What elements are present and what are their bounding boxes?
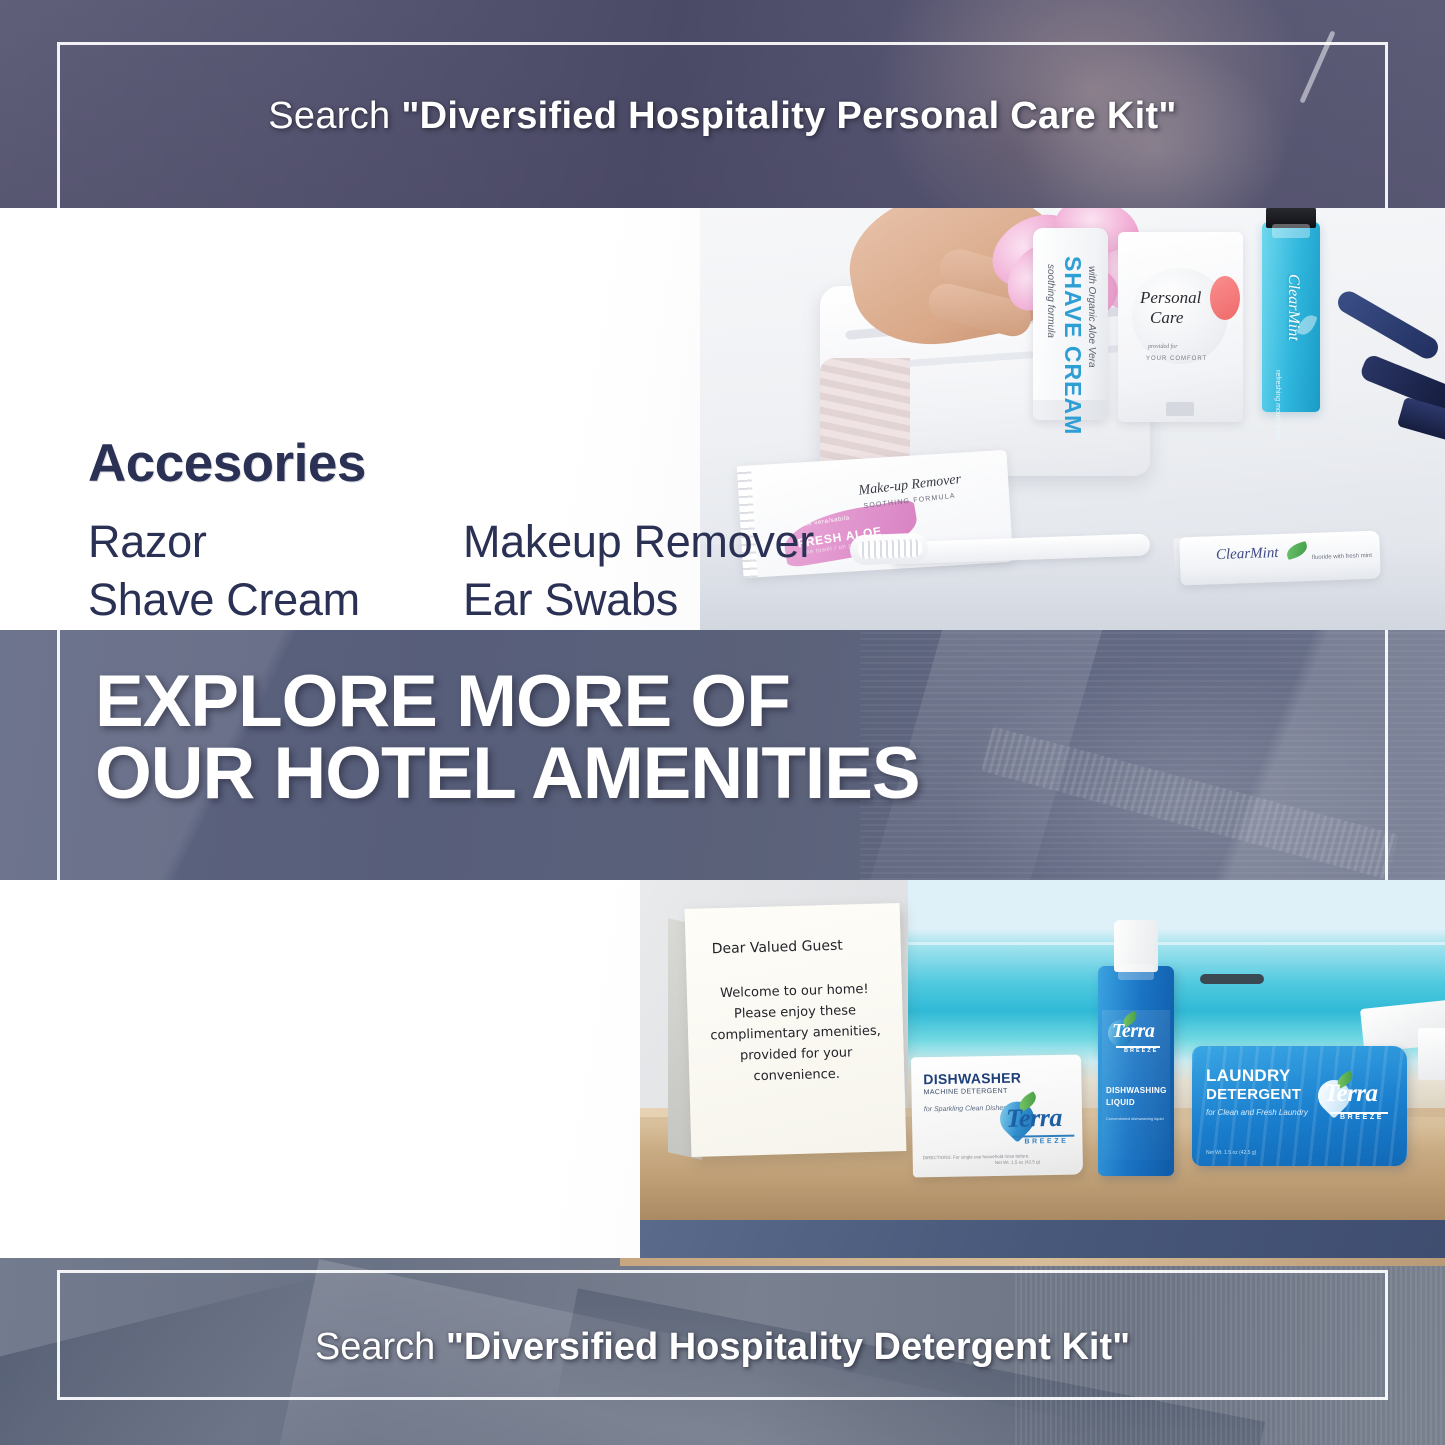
welcome-tent-card: Dear Valued Guest Welcome to our home! P… [685, 903, 907, 1157]
mouthwash-bottle: ClearMint refreshing mouth rinse [1262, 222, 1320, 412]
personal-care-line2: Care [1150, 308, 1183, 328]
personal-care-line1: Personal [1140, 288, 1201, 308]
floor-rug [640, 1220, 1445, 1258]
dishwasher-subtitle: MACHINE DETERGENT [924, 1088, 1008, 1096]
table-edge-strip [620, 1258, 1445, 1266]
laundry-fineprint: Net Wt. 1.5 oz (42.5 g) [1206, 1150, 1256, 1156]
personal-care-soap-pack: Personal Care provided for YOUR COMFORT [1118, 232, 1243, 422]
pack-tab [1166, 402, 1194, 416]
bottle-neck-highlight [1272, 224, 1310, 238]
dishwasher-fineprint-right: Net Wt. 1.5 oz (42.5 g) [995, 1159, 1040, 1167]
pink-accent [1210, 276, 1240, 320]
dishwashing-liquid-line2: LIQUID [1106, 1098, 1135, 1107]
dishwasher-detergent-sachet: DISHWASHER MACHINE DETERGENT for Sparkli… [911, 1055, 1083, 1178]
shave-cream-title: SHAVE CREAM [1059, 256, 1086, 435]
toothbrush-bristles [858, 539, 923, 559]
top-search-text: Search "Diversified Hospitality Personal… [0, 95, 1445, 138]
accessories-heading: Accesories [88, 433, 366, 494]
list-item: Razor [88, 513, 360, 571]
tent-card-text: Dear Valued Guest Welcome to our home! P… [685, 903, 905, 1089]
folded-napkins [1418, 1028, 1445, 1080]
accessories-list-left: Razor Shave Cream Tooth Brush Tooth Past… [88, 513, 360, 630]
search-keyword: "Diversified Hospitality Personal Care K… [401, 95, 1176, 137]
shave-cream-tube: soothing formula SHAVE CREAM with Organi… [1033, 228, 1108, 420]
explore-line-1: EXPLORE MORE OF [95, 666, 920, 738]
accessories-list-right: Makeup Remover Ear Swabs Cotton Pads Nai… [463, 513, 814, 630]
terra-brand-sub: BREEZE [1124, 1048, 1158, 1054]
laundry-line2: DETERGENT [1206, 1086, 1301, 1103]
tent-card-body: Welcome to our home! Please enjoy these … [701, 978, 891, 1088]
terra-brand-word: Terra [1006, 1103, 1062, 1134]
search-prefix: Search [315, 1326, 446, 1368]
shore-rock [1200, 974, 1264, 984]
dishwashing-liquid-bottle: Terra BREEZE DISHWASHING LIQUID Concentr… [1098, 966, 1174, 1176]
tent-card-greeting: Dear Valued Guest [699, 933, 887, 961]
explore-line-2: OUR HOTEL AMENITIES [95, 738, 920, 810]
terra-brand-sub: BREEZE [1024, 1138, 1068, 1146]
explore-headline: EXPLORE MORE OF OUR HOTEL AMENITIES [95, 666, 920, 809]
bottle-neck-highlight [1118, 964, 1154, 980]
search-prefix: Search [268, 95, 401, 137]
toothpaste-brand: ClearMint [1216, 545, 1279, 564]
horizon-line [908, 942, 1445, 945]
personal-care-small1: provided for [1148, 344, 1178, 350]
detergents-section: Dear Valued Guest Welcome to our home! P… [0, 880, 1445, 1258]
accessories-section: Make-up Remover SOOTHING FORMULA aloe ve… [0, 208, 1445, 630]
laundry-detergent-pouch: LAUNDRY DETERGENT for Clean and Fresh La… [1192, 1046, 1407, 1166]
search-keyword: "Diversified Hospitality Detergent Kit" [446, 1326, 1130, 1368]
shave-cream-prefix: soothing formula [1045, 264, 1056, 338]
laundry-tagline: for Clean and Fresh Laundry [1206, 1108, 1308, 1117]
dishwashing-liquid-fineprint: Concentrated dishwashing liquid [1106, 1116, 1164, 1122]
dishwashing-liquid-line1: DISHWASHING [1106, 1086, 1167, 1095]
list-item: Ear Swabs [463, 571, 814, 629]
terra-brand-sub: BREEZE [1340, 1114, 1384, 1121]
shave-cream-suffix: with Organic Aloe Vera [1086, 266, 1097, 368]
mouthwash-sub: refreshing mouth rinse [1274, 370, 1281, 440]
dishwasher-title: DISHWASHER [923, 1070, 1021, 1088]
terra-brand-word: Terra [1324, 1080, 1378, 1108]
top-search-banner: Search "Diversified Hospitality Personal… [0, 0, 1445, 208]
product-infographic: Search "Diversified Hospitality Personal… [0, 0, 1445, 1445]
dishwasher-tagline: for Sparkling Clean Dishes [924, 1104, 1007, 1116]
bottom-search-text: Search "Diversified Hospitality Detergen… [0, 1326, 1445, 1369]
list-item: Makeup Remover [463, 513, 814, 571]
laundry-line1: LAUNDRY [1206, 1066, 1291, 1086]
personal-care-small2: YOUR COMFORT [1146, 356, 1207, 362]
detergent-kit-photo: Dear Valued Guest Welcome to our home! P… [640, 880, 1445, 1258]
list-item: Shave Cream [88, 571, 360, 629]
terra-brand-word: Terra [1112, 1020, 1154, 1043]
